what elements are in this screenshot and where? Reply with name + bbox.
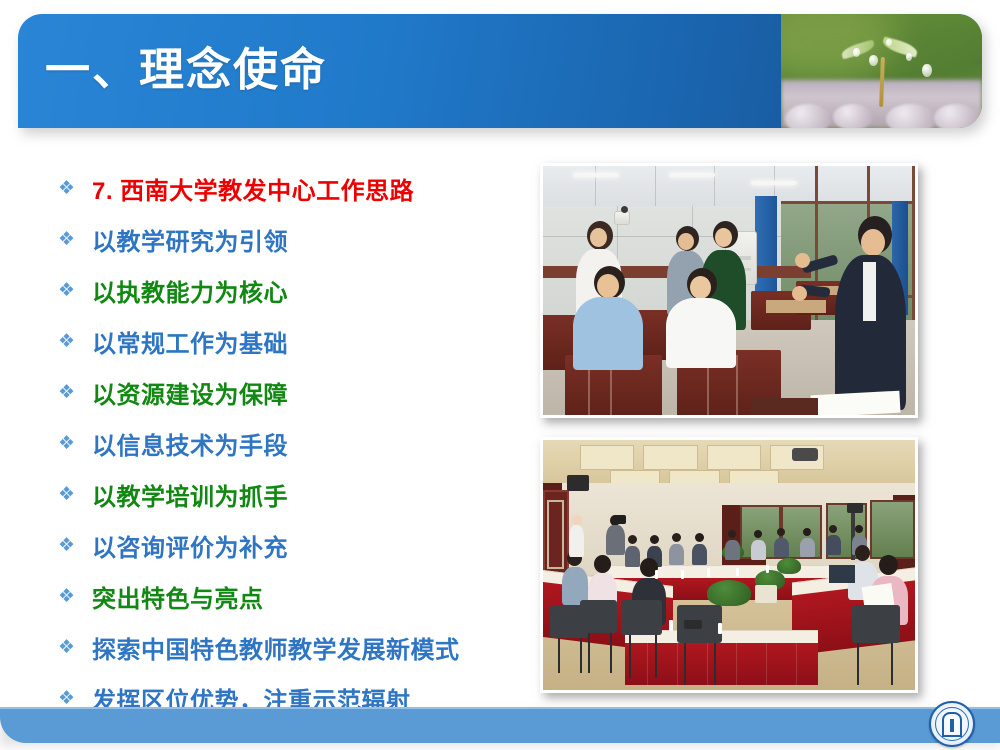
classroom-visit-photo — [540, 163, 918, 418]
seedling-dew-photo — [781, 14, 982, 128]
diamond-bullet-icon: ❖ — [56, 332, 92, 351]
bullet-text: 探索中国特色教师教学发展新模式 — [92, 630, 460, 665]
bullet-text: 以教学研究为引领 — [92, 222, 288, 257]
emblem-pillar — [950, 719, 954, 732]
conference-room-photo — [540, 437, 918, 693]
list-item[interactable]: ❖ 以咨询评价为补充 — [56, 520, 526, 571]
diamond-bullet-icon: ❖ — [56, 383, 92, 402]
bullet-text: 突出特色与亮点 — [92, 579, 264, 614]
footer-band — [0, 707, 1000, 743]
diamond-bullet-icon: ❖ — [56, 230, 92, 249]
header-banner: 一、理念使命 — [18, 14, 982, 128]
diamond-bullet-icon: ❖ — [56, 281, 92, 300]
emblem-base — [942, 735, 962, 737]
slide-header: 一、理念使命 — [18, 14, 982, 128]
footer-sheen — [0, 707, 1000, 709]
page-title: 一、理念使命 — [45, 40, 327, 100]
bullet-text: 以信息技术为手段 — [92, 426, 288, 461]
diamond-bullet-icon: ❖ — [56, 689, 92, 708]
bullet-text: 7. 西南大学教发中心工作思路 — [92, 171, 414, 206]
list-item[interactable]: ❖ 以信息技术为手段 — [56, 418, 526, 469]
bullet-list: ❖ 7. 西南大学教发中心工作思路 ❖ 以教学研究为引领 ❖ 以执教能力为核心 … — [56, 163, 526, 724]
diamond-bullet-icon: ❖ — [56, 536, 92, 555]
list-item[interactable]: ❖ 以常规工作为基础 — [56, 316, 526, 367]
bullet-text: 以常规工作为基础 — [92, 324, 288, 359]
diamond-bullet-icon: ❖ — [56, 179, 92, 198]
diamond-bullet-icon: ❖ — [56, 587, 92, 606]
diamond-bullet-icon: ❖ — [56, 434, 92, 453]
presentation-slide: 一、理念使命 ❖ — [0, 0, 1000, 750]
list-item[interactable]: ❖ 7. 西南大学教发中心工作思路 — [56, 163, 526, 214]
list-item[interactable]: ❖ 以教学研究为引领 — [56, 214, 526, 265]
list-item[interactable]: ❖ 以教学培训为抓手 — [56, 469, 526, 520]
diamond-bullet-icon: ❖ — [56, 638, 92, 657]
bullet-text: 以资源建设为保障 — [92, 375, 288, 410]
list-item[interactable]: ❖ 以执教能力为核心 — [56, 265, 526, 316]
bullet-text: 以咨询评价为补充 — [92, 528, 288, 563]
list-item[interactable]: ❖ 以资源建设为保障 — [56, 367, 526, 418]
list-item[interactable]: ❖ 突出特色与亮点 — [56, 571, 526, 622]
list-item[interactable]: ❖ 探索中国特色教师教学发展新模式 — [56, 622, 526, 673]
bullet-text: 以教学培训为抓手 — [92, 477, 288, 512]
bullet-text: 以执教能力为核心 — [92, 273, 288, 308]
diamond-bullet-icon: ❖ — [56, 485, 92, 504]
southwest-university-emblem — [929, 701, 975, 747]
